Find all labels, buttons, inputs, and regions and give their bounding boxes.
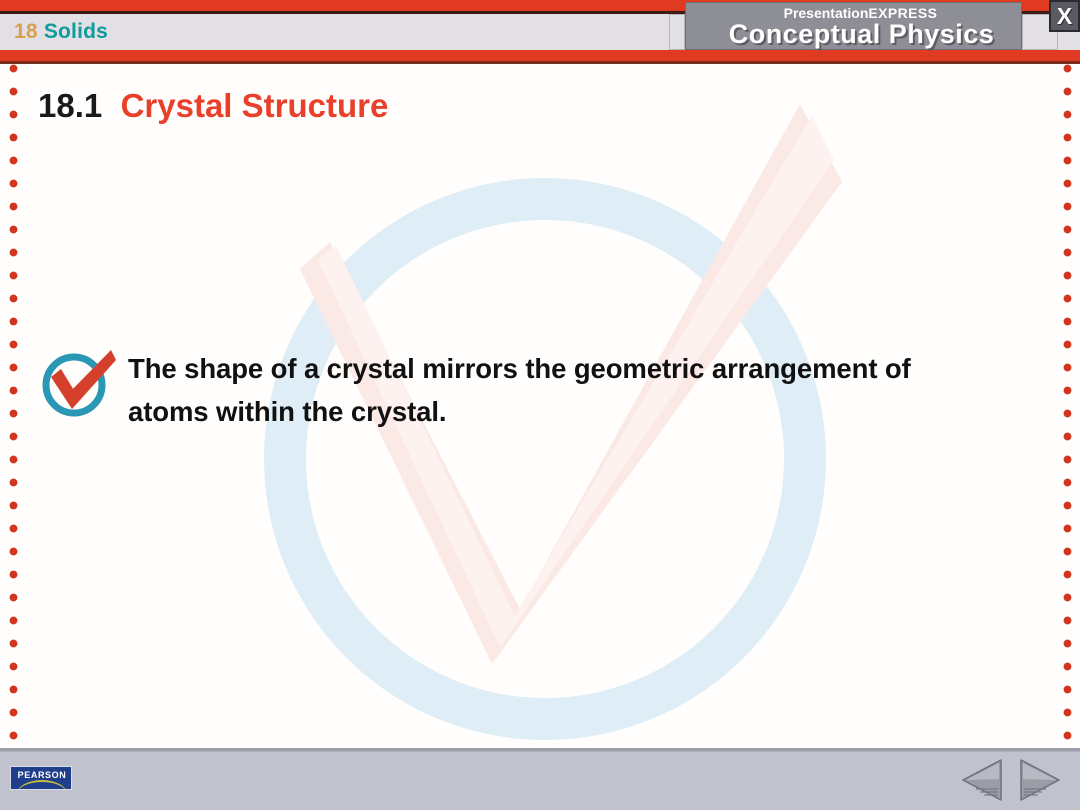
pearson-logo: PEARSON: [10, 766, 72, 790]
slide-footer: [0, 748, 1080, 810]
page-title: 18.1 Crystal Structure: [38, 86, 388, 126]
presentation-slide-window: 18 Solids PresentationEXPRESS Conceptual…: [0, 0, 1080, 810]
close-icon[interactable]: X: [1049, 0, 1080, 32]
header-plate-gap-left: [669, 14, 685, 50]
chapter-name: Solids: [44, 20, 108, 43]
bullet-item: The shape of a crystal mirrors the geome…: [34, 343, 954, 433]
chapter-label: 18 Solids: [14, 18, 108, 46]
dotted-border-left: [9, 64, 18, 748]
slide-content-area: 18.1 Crystal Structure The shape of a cr…: [0, 64, 1080, 748]
dotted-border-right: [1063, 64, 1072, 748]
section-number: 18.1: [38, 87, 102, 124]
header-bottom-red-band: [0, 50, 1080, 61]
section-title: Crystal Structure: [121, 87, 389, 124]
chapter-number: 18: [14, 20, 38, 43]
brand-course-title: Conceptual Physics: [685, 18, 1022, 50]
pearson-logo-arc: [17, 780, 67, 790]
next-slide-button[interactable]: [1016, 758, 1062, 802]
bullet-text: The shape of a crystal mirrors the geome…: [128, 347, 954, 433]
brand-plate: PresentationEXPRESS Conceptual Physics: [685, 2, 1022, 50]
check-circle-icon: [34, 343, 118, 419]
previous-slide-button[interactable]: [960, 758, 1006, 802]
